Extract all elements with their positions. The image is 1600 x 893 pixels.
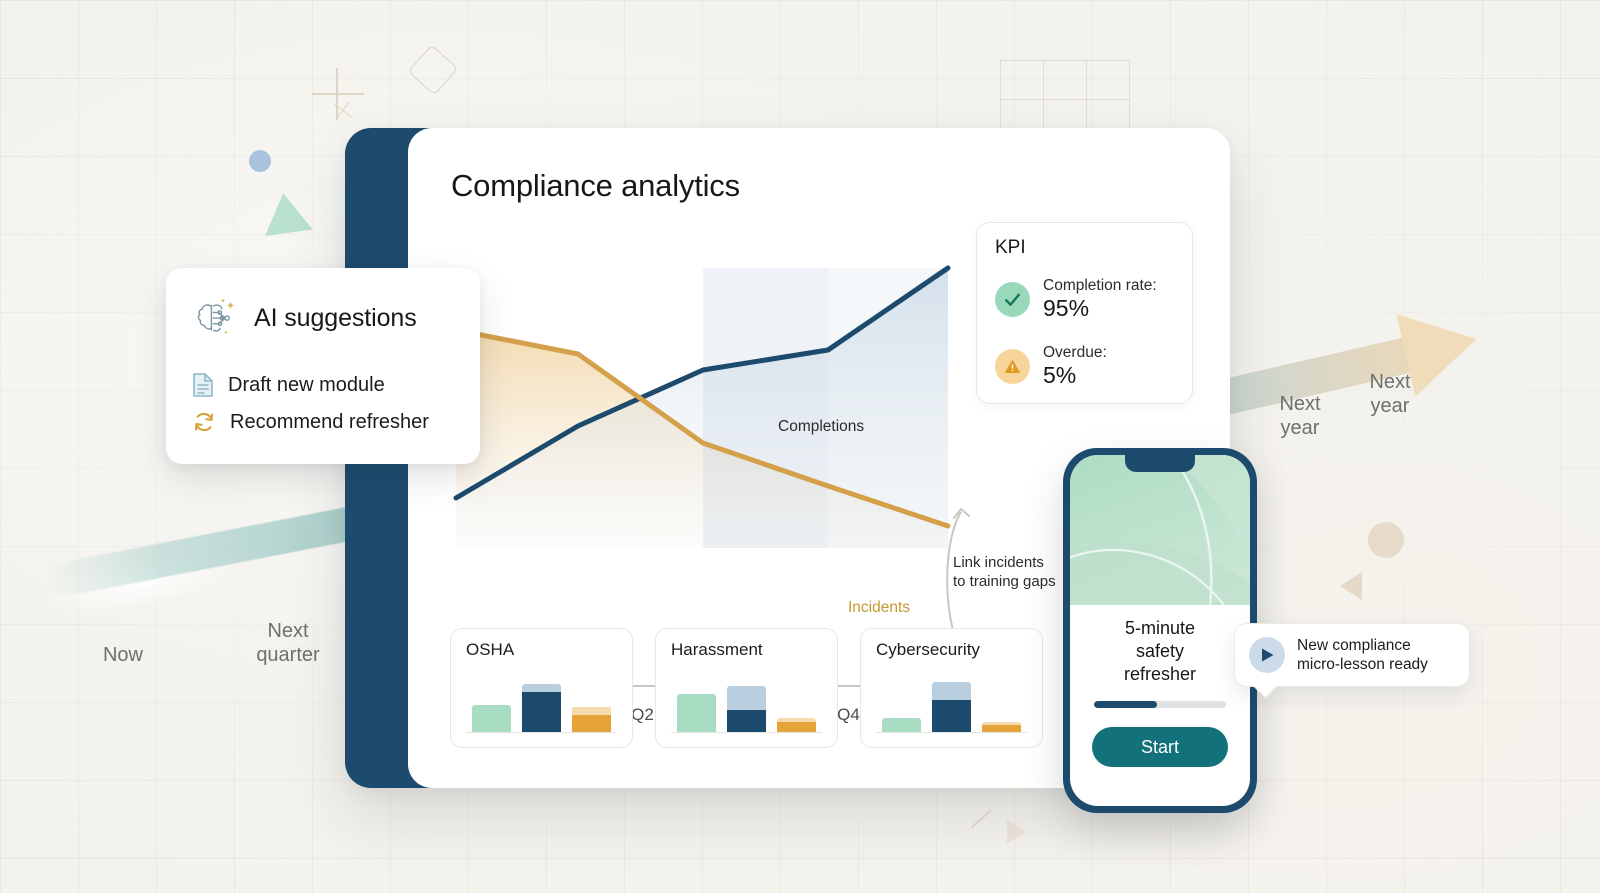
- refresh-cycle-icon: [192, 410, 216, 434]
- category-card-cybersecurity[interactable]: Cybersecurity: [860, 628, 1043, 748]
- bar-completed: [727, 686, 766, 732]
- phone-lesson-title-line1: 5-minute: [1082, 617, 1238, 640]
- kpi-overdue-text: Overdue: 5%: [1043, 344, 1107, 389]
- bar-completed: [932, 682, 971, 732]
- phone-notch: [1125, 455, 1195, 472]
- kpi-overdue-value: 5%: [1043, 363, 1107, 389]
- kpi-completion-label: Completion rate:: [1043, 277, 1157, 294]
- category-card-harassment-title: Harassment: [671, 640, 763, 660]
- phone-progress-fill: [1094, 701, 1157, 708]
- bar-overdue: [777, 718, 816, 732]
- phone-mockup: 5-minute safety refresher Start: [1063, 448, 1257, 813]
- kpi-row-overdue: Overdue: 5%: [995, 344, 1107, 389]
- ai-suggestion-draft-new-module-label: Draft new module: [228, 374, 385, 397]
- trend-chart: Completions Incidents X Q1 Q2 Q3 Q4 Futu…: [448, 258, 978, 558]
- bar-assigned: [677, 694, 716, 732]
- category-card-harassment-bars: [671, 674, 822, 733]
- bar-overdue: [572, 706, 611, 732]
- series-label-incidents: Incidents: [848, 599, 910, 617]
- timeline-label-next-year-b: Next year: [1335, 370, 1445, 418]
- category-card-cybersecurity-bars: [876, 674, 1027, 733]
- bar-assigned: [472, 705, 511, 732]
- timeline-label-next-quarter: Next quarter: [218, 619, 358, 667]
- kpi-completion-text: Completion rate: 95%: [1043, 277, 1157, 322]
- ai-suggestions-header: AI suggestions: [188, 292, 417, 344]
- ai-suggestions-card: AI suggestions Draft new module Recommen…: [166, 268, 480, 464]
- decorative-green-triangle: [259, 190, 312, 236]
- series-label-completions: Completions: [778, 418, 864, 436]
- phone-lesson-title: 5-minute safety refresher: [1082, 617, 1238, 686]
- category-card-osha-bars: [466, 674, 617, 733]
- start-button[interactable]: Start: [1092, 727, 1228, 767]
- kpi-completion-value: 95%: [1043, 296, 1157, 322]
- timeline-label-next-year-b-line1: Next: [1335, 370, 1445, 394]
- ai-suggestion-recommend-refresher[interactable]: Recommend refresher: [192, 410, 429, 434]
- phone-hero-art: [1070, 455, 1250, 605]
- page-title: Compliance analytics: [451, 168, 740, 204]
- notification-tooltip-line2: micro-lesson ready: [1297, 655, 1428, 674]
- kpi-card: KPI Completion rate: 95%: [976, 222, 1193, 404]
- phone-screen: 5-minute safety refresher Start: [1070, 455, 1250, 806]
- category-card-osha[interactable]: OSHA: [450, 628, 633, 748]
- category-cards: OSHA Harassment Cybersecurity: [450, 628, 1043, 748]
- decorative-tan-circle: [1368, 522, 1404, 558]
- phone-lesson-title-line2: safety: [1082, 640, 1238, 663]
- ai-suggestion-draft-new-module[interactable]: Draft new module: [192, 372, 385, 398]
- category-card-harassment[interactable]: Harassment: [655, 628, 838, 748]
- chart-annotation: Link incidents to training gaps: [953, 553, 1081, 591]
- decorative-blue-circle: [249, 150, 271, 172]
- trend-chart-svg: [448, 258, 978, 558]
- timeline-label-next-year-a-line2: year: [1245, 416, 1355, 440]
- phone-lesson-title-line3: refresher: [1082, 663, 1238, 686]
- decorative-tan-triangle: [1340, 572, 1362, 600]
- notification-tooltip[interactable]: New compliance micro-lesson ready: [1234, 623, 1470, 687]
- kpi-row-completion-rate: Completion rate: 95%: [995, 277, 1157, 322]
- play-triangle-icon: [1260, 647, 1275, 663]
- check-circle-icon: [995, 282, 1030, 317]
- play-icon: [1249, 637, 1285, 673]
- document-icon: [192, 372, 214, 398]
- notification-tooltip-text: New compliance micro-lesson ready: [1297, 636, 1428, 674]
- ai-brain-icon: [188, 292, 240, 344]
- notification-tooltip-line1: New compliance: [1297, 636, 1428, 655]
- ai-suggestions-title: AI suggestions: [254, 304, 417, 333]
- poster-canvas: Now Next quarter Next year Next year Com…: [0, 0, 1600, 893]
- phone-hero-image: [1070, 455, 1250, 605]
- warning-triangle-icon: [995, 349, 1030, 384]
- category-card-cybersecurity-title: Cybersecurity: [876, 640, 980, 660]
- kpi-overdue-label: Overdue:: [1043, 344, 1107, 361]
- bar-assigned: [882, 718, 921, 732]
- ai-suggestion-recommend-refresher-label: Recommend refresher: [230, 411, 429, 434]
- timeline-label-next-year-b-line2: year: [1335, 394, 1445, 418]
- bar-overdue: [982, 722, 1021, 732]
- decorative-pale-triangle: [1007, 820, 1027, 844]
- kpi-card-title: KPI: [995, 237, 1026, 259]
- phone-progress-bar: [1094, 701, 1226, 708]
- timeline-label-now: Now: [78, 643, 168, 667]
- timeline-label-next-quarter-line1: Next: [218, 619, 358, 643]
- chart-annotation-line1: Link incidents: [953, 553, 1081, 572]
- bar-completed: [522, 684, 561, 732]
- category-card-osha-title: OSHA: [466, 640, 514, 660]
- timeline-label-next-quarter-line2: quarter: [218, 643, 358, 667]
- chart-annotation-line2: to training gaps: [953, 572, 1081, 591]
